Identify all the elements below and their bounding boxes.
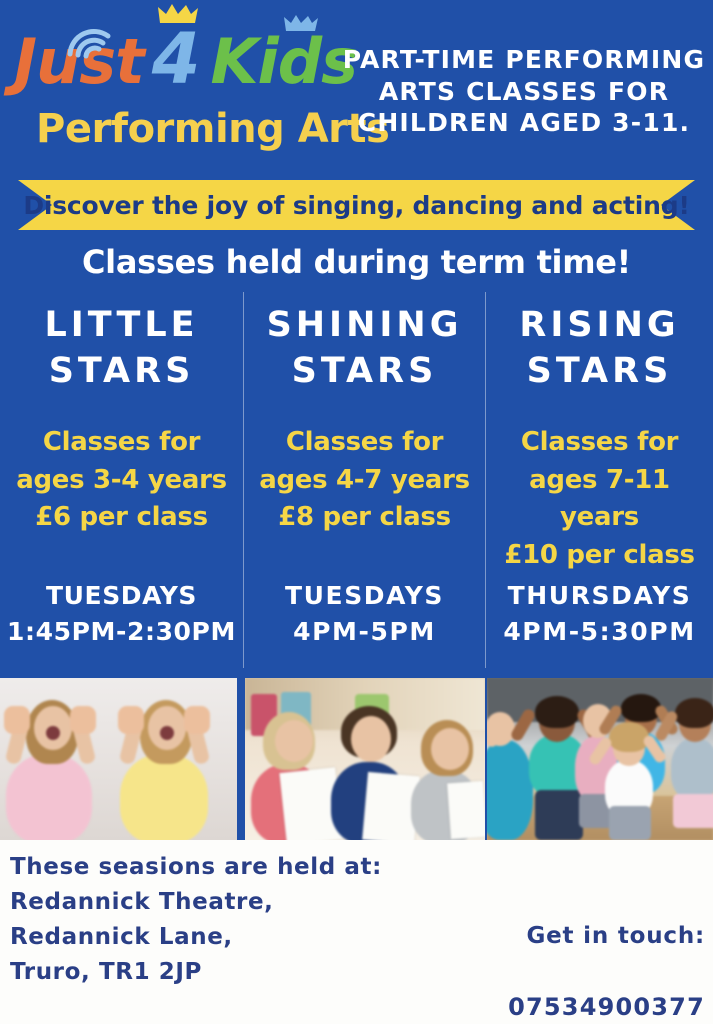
class-title: SHINING STARS xyxy=(267,302,463,394)
class-schedule: TUESDAYS 4PM-5PM xyxy=(244,578,485,649)
class-ages-price: Classes for ages 7-11 years £10 per clas… xyxy=(486,424,713,574)
poster-footer: These seasions are held at: Redannick Th… xyxy=(0,840,713,1024)
class-columns: LITTLE STARS Classes for ages 3-4 years … xyxy=(0,292,713,670)
contact-phone[interactable]: 07534900377 xyxy=(185,989,705,1024)
class-title: RISING STARS xyxy=(519,302,679,394)
wifi-arc-icon xyxy=(64,20,120,60)
class-column-shining-stars: SHINING STARS Classes for ages 4-7 years… xyxy=(244,292,485,670)
photo-strip xyxy=(0,678,713,840)
class-schedule: THURSDAYS 4PM-5:30PM xyxy=(486,578,713,649)
logo-subtitle: Performing Arts xyxy=(36,106,389,152)
brand-logo: Just4 Kids Performing Arts xyxy=(14,18,334,148)
header-tagline: PART-TIME PERFORMING ARTS CLASSES FOR CH… xyxy=(340,44,708,139)
logo-word-kids: Kids xyxy=(210,31,357,93)
poster-root: Just4 Kids Performing Arts PART-TIME PE xyxy=(0,0,713,1024)
contact-block: Get in touch: 07534900377 www.just4kidsu… xyxy=(185,884,705,1024)
class-schedule: TUESDAYS 1:45PM-2:30PM xyxy=(0,578,243,649)
contact-label: Get in touch: xyxy=(185,919,705,954)
class-ages-price: Classes for ages 4-7 years £8 per class xyxy=(259,424,470,536)
term-time-subheading: Classes held during term time! xyxy=(0,243,713,281)
class-column-rising-stars: RISING STARS Classes for ages 7-11 years… xyxy=(486,292,713,670)
photo-children-reading-scripts xyxy=(245,678,485,840)
photo-two-girls-shouting xyxy=(0,678,237,840)
crown-icon-yellow xyxy=(158,4,198,24)
class-title: LITTLE STARS xyxy=(44,302,198,394)
poster-header: Just4 Kids Performing Arts PART-TIME PE xyxy=(0,0,713,168)
banner-text: Discover the joy of singing, dancing and… xyxy=(18,180,695,230)
class-column-little-stars: LITTLE STARS Classes for ages 3-4 years … xyxy=(0,292,243,670)
class-ages-price: Classes for ages 3-4 years £6 per class xyxy=(16,424,227,536)
crown-icon-blue xyxy=(284,15,318,32)
logo-word-four: 4 xyxy=(152,24,201,94)
logo-primary-row: Just4 Kids xyxy=(14,24,334,102)
photo-children-dancing-gym xyxy=(487,678,713,840)
